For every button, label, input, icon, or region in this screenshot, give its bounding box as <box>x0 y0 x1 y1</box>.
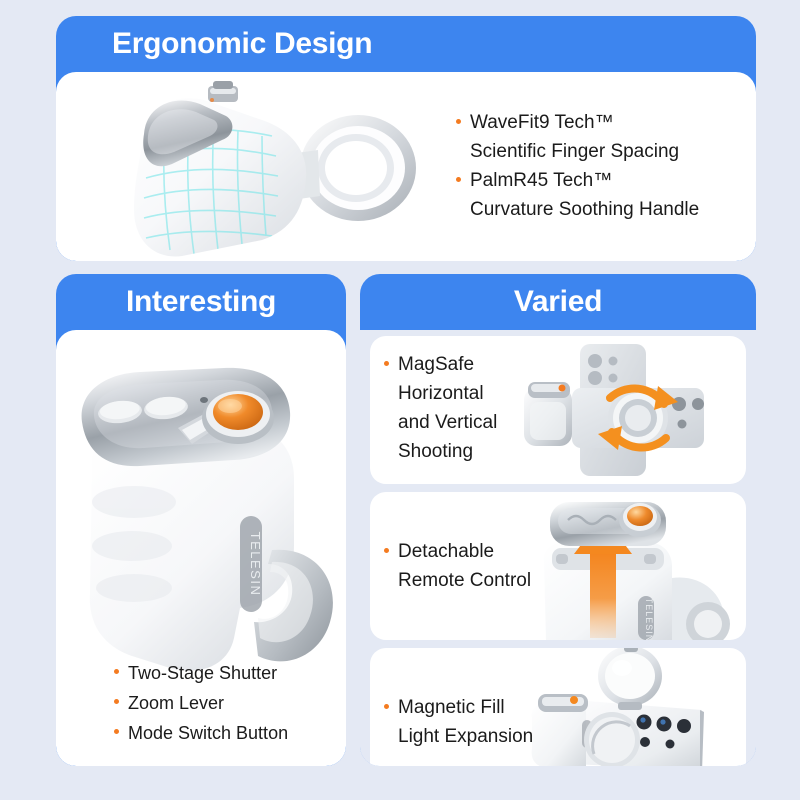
bullet-dot-icon <box>114 729 119 734</box>
panel-varied: Varied MagSafe Horizontal and Vertical S… <box>360 274 756 766</box>
bullet-text: Zoom Lever <box>128 688 224 718</box>
bullet-dot-icon <box>456 119 461 124</box>
bullet-dot-icon <box>384 361 389 366</box>
bullet-dot-icon <box>384 704 389 709</box>
list-item: Zoom Lever <box>114 688 288 718</box>
bullet-text: WaveFit9 Tech™ <box>470 108 614 137</box>
interesting-feature-list: Two-Stage Shutter Zoom Lever Mode Switch… <box>114 658 288 748</box>
panel-title-varied: Varied <box>360 274 756 330</box>
svg-text:TELESIN: TELESIN <box>248 532 263 597</box>
bullet-dot-icon <box>456 177 461 182</box>
tripod-nub <box>208 81 238 102</box>
ergonomic-feature-list: WaveFit9 Tech™ Scientific Finger Spacing… <box>456 108 736 224</box>
bullet-subtext: Scientific Finger Spacing <box>456 137 736 166</box>
panel-body-interesting: TELESIN <box>56 330 346 766</box>
bullet-dot-icon <box>114 669 119 674</box>
remote-module <box>550 502 666 546</box>
card-magnetic-fill-light: Magnetic Fill Light Expansion <box>370 648 746 766</box>
panel-interesting: Interesting <box>56 274 346 766</box>
grip-module <box>524 382 572 446</box>
list-item: PalmR45 Tech™ <box>456 166 736 195</box>
bullet-text: Detachable <box>398 537 494 566</box>
list-item: Two-Stage Shutter <box>114 658 288 688</box>
panel-title-interesting: Interesting <box>56 274 346 330</box>
bullet-text: Mode Switch Button <box>128 718 288 748</box>
bullet-text: PalmR45 Tech™ <box>470 166 612 195</box>
led-indicator-icon <box>200 397 208 403</box>
infographic-page: Ergonomic Design <box>0 0 800 800</box>
product-image-detachable-remote: TELESIN <box>512 492 742 640</box>
list-item: Mode Switch Button <box>114 718 288 748</box>
product-image-magsafe-rotation <box>512 336 742 484</box>
brand-badge: TELESIN <box>240 516 263 612</box>
svg-text:TELESIN: TELESIN <box>644 598 654 640</box>
fill-light-panel <box>598 648 662 710</box>
panel-body-ergonomic: WaveFit9 Tech™ Scientific Finger Spacing… <box>56 72 756 261</box>
magnetic-mount <box>584 712 640 766</box>
bullet-dot-icon <box>384 548 389 553</box>
panel-body-varied: MagSafe Horizontal and Vertical Shooting <box>360 330 756 766</box>
panel-ergonomic-design: Ergonomic Design <box>56 16 756 261</box>
product-image-grip-controls: TELESIN <box>58 350 346 680</box>
shutter-button <box>619 503 661 537</box>
panel-title-ergonomic: Ergonomic Design <box>56 16 756 72</box>
bullet-text: Two-Stage Shutter <box>128 658 277 688</box>
brand-badge: TELESIN <box>638 596 654 640</box>
card-magsafe-shooting: MagSafe Horizontal and Vertical Shooting <box>370 336 746 484</box>
product-image-fill-light <box>512 648 742 766</box>
list-item: WaveFit9 Tech™ <box>456 108 736 137</box>
bullet-subtext: Curvature Soothing Handle <box>456 195 736 224</box>
bullet-text: MagSafe <box>398 350 474 379</box>
grip-module <box>532 694 592 766</box>
bullet-text: Magnetic Fill <box>398 693 505 722</box>
card-detachable-remote: Detachable Remote Control <box>370 492 746 640</box>
varied-card-stack: MagSafe Horizontal and Vertical Shooting <box>360 330 756 766</box>
bullet-dot-icon <box>114 699 119 704</box>
product-image-grip-ergonomics <box>86 78 446 261</box>
